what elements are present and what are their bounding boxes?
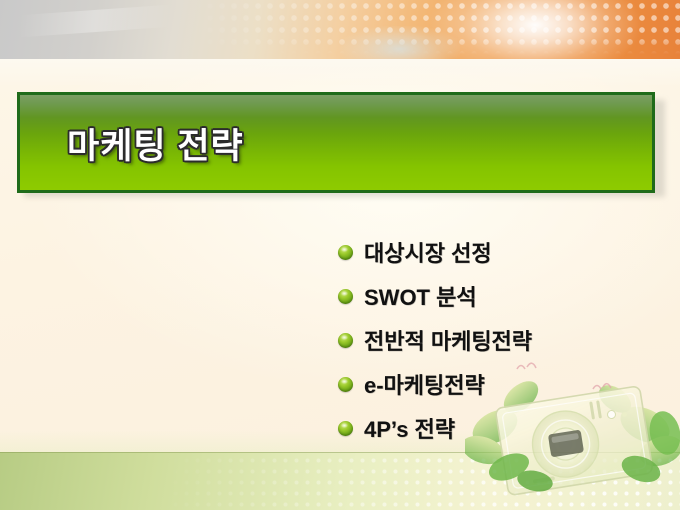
green-sphere-bullet-icon [338, 289, 353, 304]
list-item-label: e-마케팅전략 [364, 368, 485, 400]
list-item[interactable]: 대상시장 선정 [338, 230, 658, 274]
list-item[interactable]: e-마케팅전략 [338, 362, 658, 406]
header-banner [0, 0, 680, 59]
header-under-glow [0, 59, 680, 85]
green-sphere-bullet-icon [338, 245, 353, 260]
presentation-slide: 마케팅 전략 대상시장 선정 SWOT 분석 전반적 마케팅전략 e-마케팅전략… [0, 0, 680, 510]
green-sphere-bullet-icon [338, 421, 353, 436]
green-sphere-bullet-icon [338, 377, 353, 392]
list-item-label: 4P’s 전략 [364, 412, 455, 444]
list-item-label: 대상시장 선정 [364, 236, 492, 268]
list-item[interactable]: 전반적 마케팅전략 [338, 318, 658, 362]
list-item[interactable]: SWOT 분석 [338, 274, 658, 318]
header-light-glow [430, 0, 640, 59]
list-item[interactable]: 4P’s 전략 [338, 406, 658, 450]
green-sphere-bullet-icon [338, 333, 353, 348]
list-item-label: 전반적 마케팅전략 [364, 324, 532, 356]
page-title: 마케팅 전략 [67, 118, 244, 169]
bullet-list: 대상시장 선정 SWOT 분석 전반적 마케팅전략 e-마케팅전략 4P’s 전… [338, 230, 658, 450]
list-item-label: SWOT 분석 [364, 280, 477, 312]
